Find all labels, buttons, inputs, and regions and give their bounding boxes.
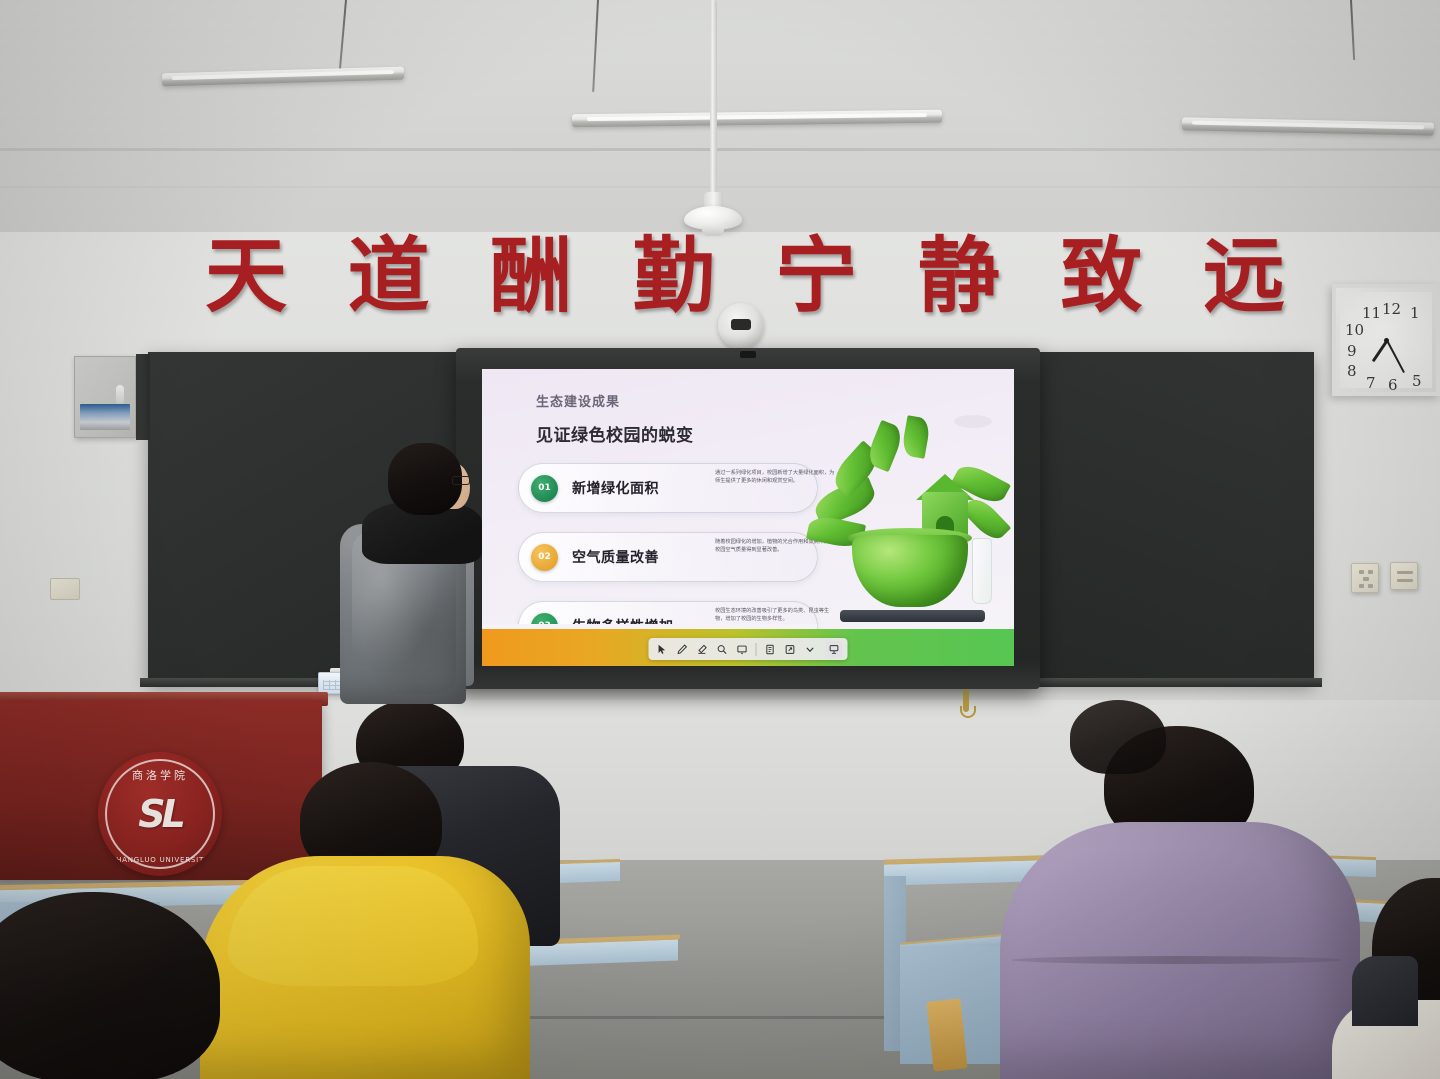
electrical-box-sticker [80, 404, 130, 430]
board-frame-edge [136, 354, 150, 440]
outlet-slot [1359, 570, 1364, 574]
cloud-shape [954, 415, 992, 428]
student-purple-jacket [1000, 822, 1360, 1079]
clock-face: 11 12 1 10 9 8 7 6 5 [1340, 292, 1432, 388]
clock-number: 8 [1347, 362, 1357, 380]
slogan-char: 勤 [633, 236, 715, 318]
slogan-char: 静 [918, 236, 1000, 318]
presenter-icon[interactable] [826, 641, 843, 658]
ceiling-camera-pole [710, 0, 717, 200]
slogan-char: 远 [1203, 236, 1285, 318]
outlet-slot [1363, 577, 1369, 581]
slogan-char: 酬 [490, 236, 572, 318]
outlet-slot [1368, 570, 1373, 574]
wall-clock: 11 12 1 10 9 8 7 6 5 [1332, 284, 1440, 396]
presenter-glasses [452, 476, 470, 485]
card-title: 空气质量改善 [572, 547, 659, 567]
wall-outlet[interactable] [1390, 562, 1418, 590]
slide-card: 02 空气质量改善 随着校园绿化的增加，植物的光合作用和蒸腾作用使校园空气质量得… [518, 532, 818, 582]
slide-card: 01 新增绿化面积 通过一系列绿化项目，校园新增了大量绿化面积，为师生提供了更多… [518, 463, 818, 513]
ceiling-seam-secondary [0, 186, 1440, 188]
wall-hook [963, 686, 969, 712]
outlet-slot [1368, 584, 1373, 588]
outlet-slot [1397, 571, 1413, 574]
spray-bottle [972, 538, 992, 604]
pen-icon[interactable] [674, 641, 691, 658]
plant-illustration [804, 415, 1014, 630]
clock-minute-hand [1386, 340, 1405, 373]
clock-number: 6 [1388, 376, 1398, 394]
clock-number: 10 [1345, 321, 1364, 339]
display-screen[interactable]: 生态建设成果 见证绿色校园的蜕变 01 新增绿化面积 通过一系列绿化项目，校园新… [482, 369, 1014, 666]
slogan-char: 天 [205, 236, 287, 318]
presenter-hair [388, 443, 462, 515]
chair-backrest [926, 998, 967, 1071]
zoom-icon[interactable] [714, 641, 731, 658]
eraser-icon[interactable] [694, 641, 711, 658]
slogan-char: 致 [1060, 236, 1142, 318]
university-emblem: 商洛学院 SL SHANGLUO UNIVERSITY [98, 752, 222, 876]
student-hair [1070, 700, 1166, 774]
outlet-slot [1397, 579, 1413, 582]
emblem-english-name: SHANGLUO UNIVERSITY [98, 856, 222, 864]
wall-outlet[interactable] [1351, 563, 1379, 593]
clock-number: 12 [1382, 300, 1401, 318]
blackboard-right-panel [1030, 352, 1314, 682]
slogan-char: 道 [348, 236, 430, 318]
ceiling-seam [0, 148, 1440, 151]
page-icon[interactable] [762, 641, 779, 658]
chevron-down-icon[interactable] [802, 641, 819, 658]
smart-display[interactable]: 生态建设成果 见证绿色校园的蜕变 01 新增绿化面积 通过一系列绿化项目，校园新… [456, 348, 1040, 689]
slide-eyebrow: 生态建设成果 [536, 391, 620, 410]
pot-tray [840, 610, 985, 622]
display-sensor-icon [740, 351, 756, 358]
clock-number: 11 [1362, 304, 1381, 322]
clock-number: 7 [1366, 374, 1376, 392]
clock-number: 1 [1410, 304, 1420, 322]
puffer-seam [1012, 956, 1342, 964]
outlet-slot [1359, 584, 1364, 588]
slogan-char: 宁 [775, 236, 857, 318]
student-yellow-hood [228, 866, 478, 986]
toolbar-divider [756, 643, 757, 656]
electrical-box[interactable] [74, 356, 136, 438]
clock-number: 5 [1412, 372, 1422, 390]
clock-center-pin [1384, 338, 1389, 343]
emblem-chinese-name: 商洛学院 [98, 767, 222, 783]
clock-number: 9 [1347, 342, 1357, 360]
student-dark-inner [1352, 956, 1418, 1026]
card-title: 新增绿化面积 [572, 478, 659, 498]
leaf-shape [901, 415, 932, 459]
classroom-scene: 天 道 酬 勤 宁 静 致 远 11 12 1 10 9 8 7 6 5 [0, 0, 1440, 1079]
display-toolbar[interactable] [649, 638, 848, 660]
share-icon[interactable] [782, 641, 799, 658]
card-number-badge: 02 [531, 544, 558, 571]
wall-outlet[interactable] [50, 578, 80, 600]
slide-title: 见证绿色校园的蜕变 [536, 421, 694, 446]
wall-slogan: 天 道 酬 勤 宁 静 致 远 [205, 222, 1285, 332]
cursor-icon[interactable] [654, 641, 671, 658]
card-number-badge: 01 [531, 475, 558, 502]
flower-pot [852, 535, 968, 607]
electrical-box-latch[interactable] [116, 385, 124, 405]
screen-icon[interactable] [734, 641, 751, 658]
